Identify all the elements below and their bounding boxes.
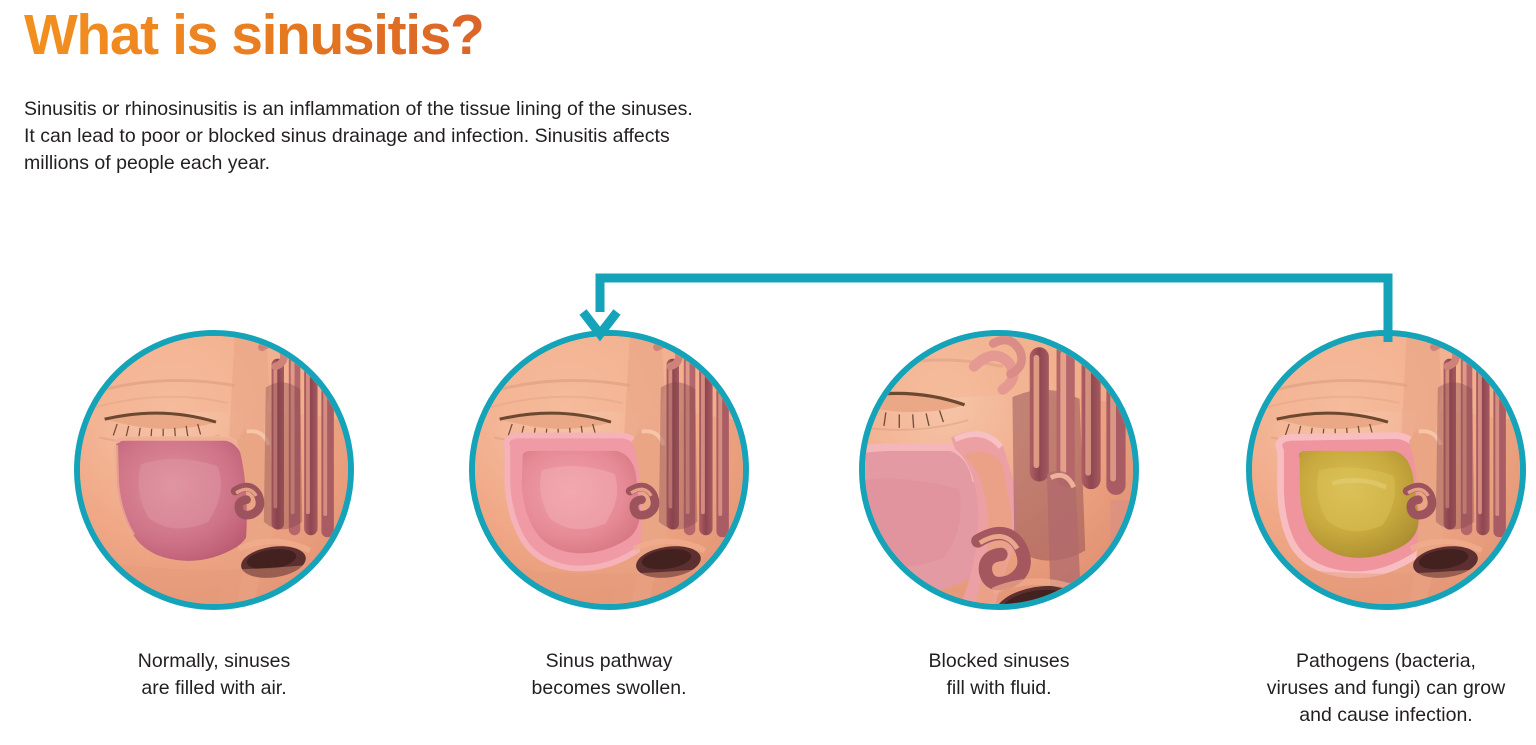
caption-line-1: Pathogens (bacteria, bbox=[1232, 648, 1536, 675]
caption-line-2: viruses and fungi) can grow bbox=[1232, 675, 1536, 702]
intro-line-1: Sinusitis or rhinosinusitis is an inflam… bbox=[24, 96, 854, 123]
caption-line-1: Sinus pathway bbox=[459, 648, 759, 675]
intro-paragraph: Sinusitis or rhinosinusitis is an inflam… bbox=[24, 96, 854, 177]
caption-line-3: and cause infection. bbox=[1232, 702, 1536, 729]
caption-line-1: Blocked sinuses bbox=[849, 648, 1149, 675]
step-caption-infected: Pathogens (bacteria, viruses and fungi) … bbox=[1232, 648, 1536, 729]
caption-line-2: fill with fluid. bbox=[849, 675, 1149, 702]
step-illustration-blocked bbox=[859, 330, 1139, 610]
step-caption-normal: Normally, sinuses are filled with air. bbox=[64, 648, 364, 702]
sinus-cross-section-infected-icon bbox=[1246, 330, 1526, 610]
sinusitis-progression-flow bbox=[0, 330, 1536, 630]
sinus-cross-section-blocked-icon bbox=[859, 330, 1139, 610]
feedback-loop-arrow-infected-to-swollen bbox=[570, 268, 1400, 342]
page-title: What is sinusitis? bbox=[24, 6, 483, 66]
step-illustration-infected bbox=[1246, 330, 1526, 610]
caption-line-1: Normally, sinuses bbox=[64, 648, 364, 675]
step-caption-swollen: Sinus pathway becomes swollen. bbox=[459, 648, 759, 702]
infographic-page: What is sinusitis? Sinusitis or rhinosin… bbox=[0, 0, 1536, 745]
caption-line-2: are filled with air. bbox=[64, 675, 364, 702]
intro-line-2: It can lead to poor or blocked sinus dra… bbox=[24, 123, 854, 150]
step-illustration-normal bbox=[74, 330, 354, 610]
step-illustration-swollen bbox=[469, 330, 749, 610]
caption-line-2: becomes swollen. bbox=[459, 675, 759, 702]
sinus-cross-section-normal-icon bbox=[74, 330, 354, 610]
step-caption-blocked: Blocked sinuses fill with fluid. bbox=[849, 648, 1149, 702]
sinus-cross-section-swollen-icon bbox=[469, 330, 749, 610]
intro-line-3: millions of people each year. bbox=[24, 150, 854, 177]
